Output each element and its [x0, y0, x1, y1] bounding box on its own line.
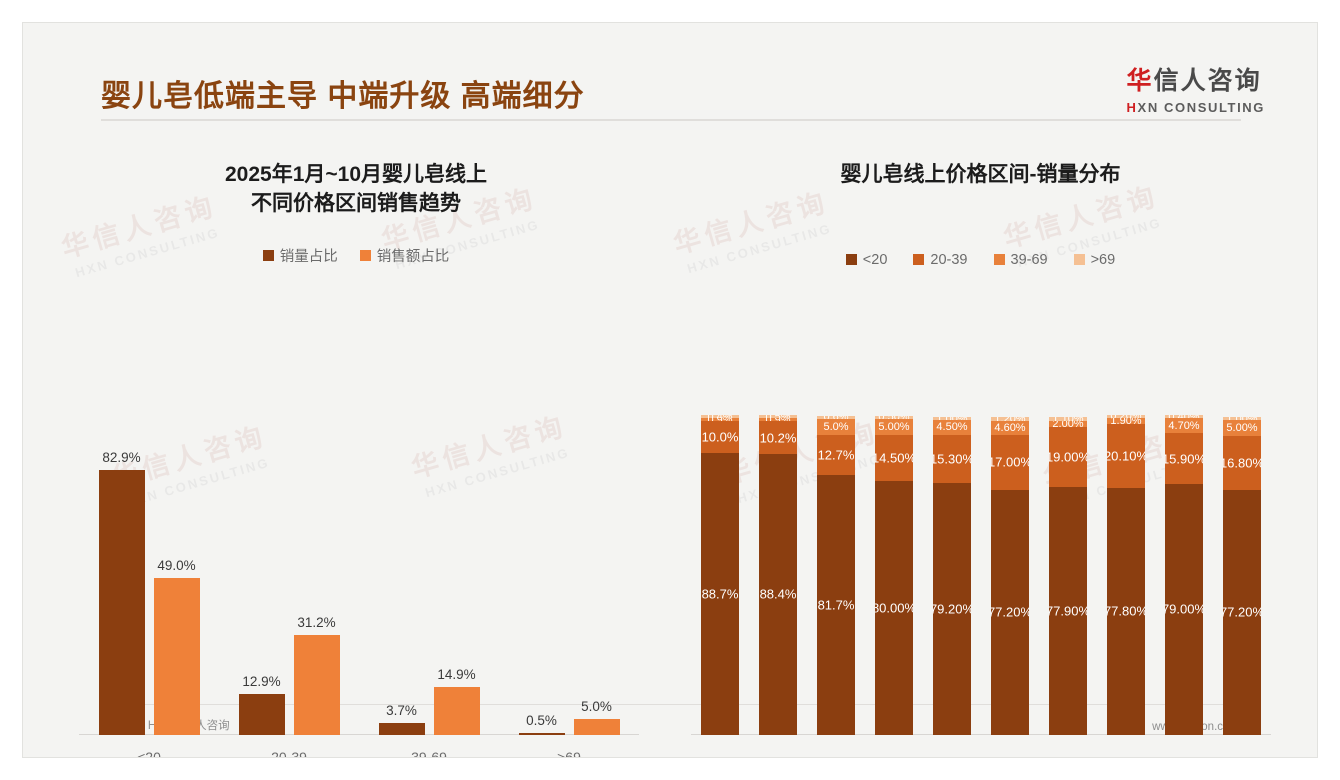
segment-value-label: 5.0% — [823, 421, 848, 433]
bar-value-label: 0.5% — [526, 713, 557, 728]
segment-value-label: 77.20% — [1223, 605, 1261, 620]
segment-value-label: 81.7% — [818, 598, 855, 613]
segment-value-label: 77.90% — [1049, 604, 1087, 619]
legend-item[interactable]: 销售额占比 — [360, 245, 450, 266]
legend-item[interactable]: 20-39 — [913, 252, 967, 268]
logo-chinese-rest: 信人咨询 — [1154, 67, 1262, 95]
left-chart-panel: 华信人咨询 HXN CONSULTING 华信人咨询 HXN CONSULTIN… — [51, 135, 661, 695]
x-tick-label: 39-69（中高价位） — [359, 747, 499, 758]
company-logo: 华信人咨询 HXN CONSULTING — [1127, 61, 1265, 115]
legend-item[interactable]: 销量占比 — [263, 245, 338, 266]
stacked-bar-rect[interactable]: 0.20%1.90%20.10%77.80% — [1107, 415, 1145, 735]
bar-value-label: 82.9% — [102, 450, 140, 465]
segment-value-label: 4.50% — [936, 421, 967, 433]
x-tick-range: >69 — [499, 747, 639, 758]
right-chart-legend: <20 20-39 39-69 >69 — [673, 252, 1288, 268]
bar-group: 3.7%14.9% — [359, 667, 499, 735]
bar-value-label: 12.9% — [242, 674, 280, 689]
header-divider — [101, 119, 1241, 121]
bar-item[interactable]: 5.0% — [574, 699, 620, 735]
bar-item[interactable]: 12.9% — [239, 674, 285, 735]
grouped-chart-x-tick-labels: <20（低价位）20-39（中低价位）39-69（中高价位）>69（高价位） — [79, 747, 639, 758]
legend-label: 39-69 — [1011, 252, 1048, 268]
bar-rect[interactable] — [379, 723, 425, 735]
stacked-segment[interactable]: 5.00% — [875, 419, 913, 435]
legend-label: <20 — [863, 252, 888, 268]
segment-value-label: 15.90% — [1165, 451, 1203, 466]
bar-rect[interactable] — [239, 694, 285, 735]
stacked-segment[interactable]: 16.80% — [1223, 436, 1261, 489]
segment-value-label: 14.50% — [875, 450, 913, 465]
segment-value-label: 20.10% — [1107, 448, 1145, 463]
bar-rect[interactable] — [154, 578, 200, 735]
page-title: 婴儿皂低端主导 中端升级 高端细分 — [101, 71, 585, 115]
stacked-segment[interactable]: 12.7% — [817, 435, 855, 475]
stacked-bar-rect[interactable]: 1.00%5.00%16.80%77.20% — [1223, 417, 1261, 735]
legend-item[interactable]: 39-69 — [994, 252, 1048, 268]
stacked-bar-rect[interactable]: 0.5%0.9%10.2%88.4% — [759, 415, 797, 735]
left-chart-title-line1: 2025年1月~10月婴儿皂线上 — [51, 161, 661, 190]
x-tick-label: 20-39（中低价位） — [219, 747, 359, 758]
legend-swatch-icon — [913, 254, 924, 265]
bar-value-label: 14.9% — [437, 667, 475, 682]
legend-swatch-icon — [994, 254, 1005, 265]
segment-value-label: 80.00% — [875, 600, 913, 615]
segment-value-label: 88.7% — [702, 586, 739, 601]
segment-value-label: 77.20% — [991, 605, 1029, 620]
stacked-segment[interactable]: 88.4% — [759, 454, 797, 735]
bar-item[interactable]: 49.0% — [154, 558, 200, 735]
stacked-bar-item: 0.20%1.90%20.10%77.80% — [1097, 415, 1155, 735]
stacked-segment[interactable]: 20.10% — [1107, 424, 1145, 488]
stacked-bar-rect[interactable]: 0.6%5.0%12.7%81.7% — [817, 416, 855, 735]
legend-swatch-icon — [263, 250, 274, 261]
slide-header: 婴儿皂低端主导 中端升级 高端细分 华信人咨询 HXN CONSULTING — [23, 23, 1317, 115]
stacked-segment[interactable]: 5.0% — [817, 419, 855, 435]
stacked-segment[interactable]: 17.00% — [991, 435, 1029, 489]
legend-swatch-icon — [360, 250, 371, 261]
segment-value-label: 5.00% — [878, 421, 909, 433]
segment-value-label: 15.30% — [933, 451, 971, 466]
legend-label: 20-39 — [930, 252, 967, 268]
stacked-segment[interactable]: 77.90% — [1049, 487, 1087, 735]
bar-item[interactable]: 3.7% — [379, 703, 425, 735]
stacked-bar-rect[interactable]: 0.40%4.70%15.90%79.00% — [1165, 415, 1203, 735]
legend-item[interactable]: <20 — [846, 252, 888, 268]
stacked-segment[interactable]: 81.7% — [817, 475, 855, 735]
bar-value-label: 49.0% — [157, 558, 195, 573]
bar-item[interactable]: 82.9% — [99, 450, 145, 735]
slide-canvas: 婴儿皂低端主导 中端升级 高端细分 华信人咨询 HXN CONSULTING 华… — [22, 22, 1318, 758]
bar-item[interactable]: 31.2% — [294, 615, 340, 735]
stacked-bar-chart: 0.4%0.9%10.0%88.7%0.5%0.9%10.2%88.4%0.6%… — [691, 413, 1271, 758]
grouped-bar-chart: 82.9%49.0%12.9%31.2%3.7%14.9%0.5%5.0% <2… — [79, 413, 639, 758]
stacked-segment[interactable]: 15.90% — [1165, 433, 1203, 484]
left-chart-title-line2: 不同价格区间销售趋势 — [51, 190, 661, 219]
left-chart-title: 2025年1月~10月婴儿皂线上 不同价格区间销售趋势 — [51, 161, 661, 219]
legend-swatch-icon — [846, 254, 857, 265]
left-chart-legend: 销量占比 销售额占比 — [51, 245, 661, 266]
legend-label: 销售额占比 — [377, 245, 450, 266]
segment-value-label: 79.20% — [933, 602, 971, 617]
logo-english-rest: XN CONSULTING — [1138, 100, 1265, 115]
segment-value-label: 10.2% — [760, 430, 797, 445]
right-chart-title: 婴儿皂线上价格区间-销量分布 — [673, 161, 1288, 190]
legend-label: 销量占比 — [280, 245, 338, 266]
stacked-segment[interactable]: 10.2% — [759, 421, 797, 453]
bar-group: 82.9%49.0% — [79, 450, 219, 735]
stacked-bar-item: 0.50%5.00%14.50%80.00% — [865, 416, 923, 735]
bar-group: 0.5%5.0% — [499, 699, 639, 735]
x-tick-range: 39-69 — [359, 747, 499, 758]
bar-rect[interactable] — [574, 719, 620, 735]
logo-chinese-accent: 华 — [1127, 67, 1154, 95]
stacked-bar-item: 0.40%4.70%15.90%79.00% — [1155, 415, 1213, 735]
stacked-segment[interactable]: 77.80% — [1107, 488, 1145, 735]
segment-value-label: 5.00% — [1226, 422, 1257, 434]
segment-value-label: 77.80% — [1107, 604, 1145, 619]
legend-item[interactable]: >69 — [1074, 252, 1116, 268]
logo-english-accent: H — [1127, 100, 1138, 115]
stacked-bar-rect[interactable]: 1.00%4.50%15.30%79.20% — [933, 417, 971, 735]
x-tick-label: <20（低价位） — [79, 747, 219, 758]
stacked-bar-item: 1.00%4.50%15.30%79.20% — [923, 417, 981, 735]
right-chart-title-line1: 婴儿皂线上价格区间-销量分布 — [673, 161, 1288, 190]
segment-value-label: 79.00% — [1165, 602, 1203, 617]
segment-value-label: 4.60% — [994, 422, 1025, 434]
logo-english: HXN CONSULTING — [1127, 100, 1265, 115]
bar-item[interactable]: 14.9% — [434, 667, 480, 735]
stacked-bar-rect[interactable]: 0.50%5.00%14.50%80.00% — [875, 416, 913, 735]
bar-group: 12.9%31.2% — [219, 615, 359, 735]
stacked-segment[interactable]: 15.30% — [933, 435, 971, 484]
stacked-segment[interactable]: 77.20% — [991, 490, 1029, 735]
stacked-bar-plot-area: 0.4%0.9%10.0%88.7%0.5%0.9%10.2%88.4%0.6%… — [691, 413, 1271, 735]
segment-value-label: 4.70% — [1168, 420, 1199, 432]
stacked-segment[interactable]: 4.60% — [991, 421, 1029, 436]
stacked-bar-item: 0.6%5.0%12.7%81.7% — [807, 416, 865, 735]
bar-rect[interactable] — [294, 635, 340, 735]
stacked-segment[interactable]: 88.7% — [701, 453, 739, 735]
stacked-segment[interactable]: 79.20% — [933, 483, 971, 735]
bar-value-label: 5.0% — [581, 699, 612, 714]
segment-value-label: 10.0% — [702, 430, 739, 445]
segment-value-label: 12.7% — [818, 448, 855, 463]
bar-item[interactable]: 0.5% — [519, 713, 565, 735]
x-tick-range: <20 — [79, 747, 219, 758]
stacked-segment[interactable]: 10.0% — [701, 421, 739, 453]
stacked-bar-item: 0.4%0.9%10.0%88.7% — [691, 415, 749, 735]
logo-chinese: 华信人咨询 — [1127, 61, 1265, 97]
legend-swatch-icon — [1074, 254, 1085, 265]
segment-value-label: 17.00% — [991, 455, 1029, 470]
stacked-bar-rect[interactable]: 1.20%4.60%17.00%77.20% — [991, 417, 1029, 735]
bar-value-label: 3.7% — [386, 703, 417, 718]
stacked-segment[interactable]: 77.20% — [1223, 490, 1261, 735]
stacked-segment[interactable]: 80.00% — [875, 481, 913, 735]
segment-value-label: 19.00% — [1049, 450, 1087, 465]
stacked-bar-item: 0.5%0.9%10.2%88.4% — [749, 415, 807, 735]
stacked-bar-item: 1.10%2.00%19.00%77.90% — [1039, 417, 1097, 735]
right-chart-panel: 华信人咨询 HXN CONSULTING 华信人咨询 HXN CONSULTIN… — [673, 135, 1288, 695]
bar-rect[interactable] — [434, 687, 480, 735]
stacked-bar-rect[interactable]: 0.4%0.9%10.0%88.7% — [701, 415, 739, 735]
stacked-bar-item: 1.20%4.60%17.00%77.20% — [981, 417, 1039, 735]
stacked-bar-item: 1.00%5.00%16.80%77.20% — [1213, 417, 1271, 735]
stacked-segment[interactable]: 5.00% — [1223, 420, 1261, 436]
grouped-bar-plot-area: 82.9%49.0%12.9%31.2%3.7%14.9%0.5%5.0% — [79, 413, 639, 735]
stacked-segment[interactable]: 14.50% — [875, 435, 913, 481]
segment-value-label: 16.80% — [1223, 455, 1261, 470]
segment-value-label: 88.4% — [760, 587, 797, 602]
legend-label: >69 — [1091, 252, 1116, 268]
stacked-segment[interactable]: 4.70% — [1165, 418, 1203, 433]
stacked-segment[interactable]: 4.50% — [933, 420, 971, 434]
x-tick-label: >69（高价位） — [499, 747, 639, 758]
stacked-bar-rect[interactable]: 1.10%2.00%19.00%77.90% — [1049, 417, 1087, 735]
stacked-segment[interactable]: 19.00% — [1049, 427, 1087, 487]
bar-value-label: 31.2% — [297, 615, 335, 630]
x-tick-range: 20-39 — [219, 747, 359, 758]
stacked-segment[interactable]: 79.00% — [1165, 484, 1203, 735]
bar-rect[interactable] — [519, 733, 565, 735]
bar-rect[interactable] — [99, 470, 145, 735]
